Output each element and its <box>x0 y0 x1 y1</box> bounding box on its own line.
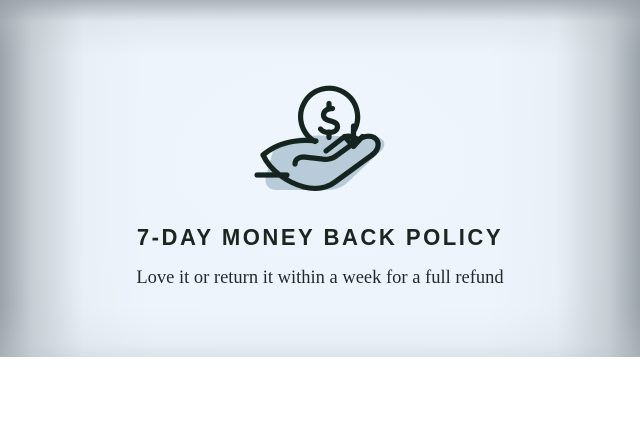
icon-container <box>0 78 640 208</box>
promo-banner: 7-DAY MONEY BACK POLICY Love it or retur… <box>0 0 640 427</box>
hand-holding-money-return-icon <box>230 78 410 208</box>
footer-bar: Rydell (701) 772-7211 rydellchev.com <box>0 357 640 427</box>
page-title: 7-DAY MONEY BACK POLICY <box>13 226 627 249</box>
subtitle-text: Love it or return it within a week for a… <box>112 266 528 291</box>
